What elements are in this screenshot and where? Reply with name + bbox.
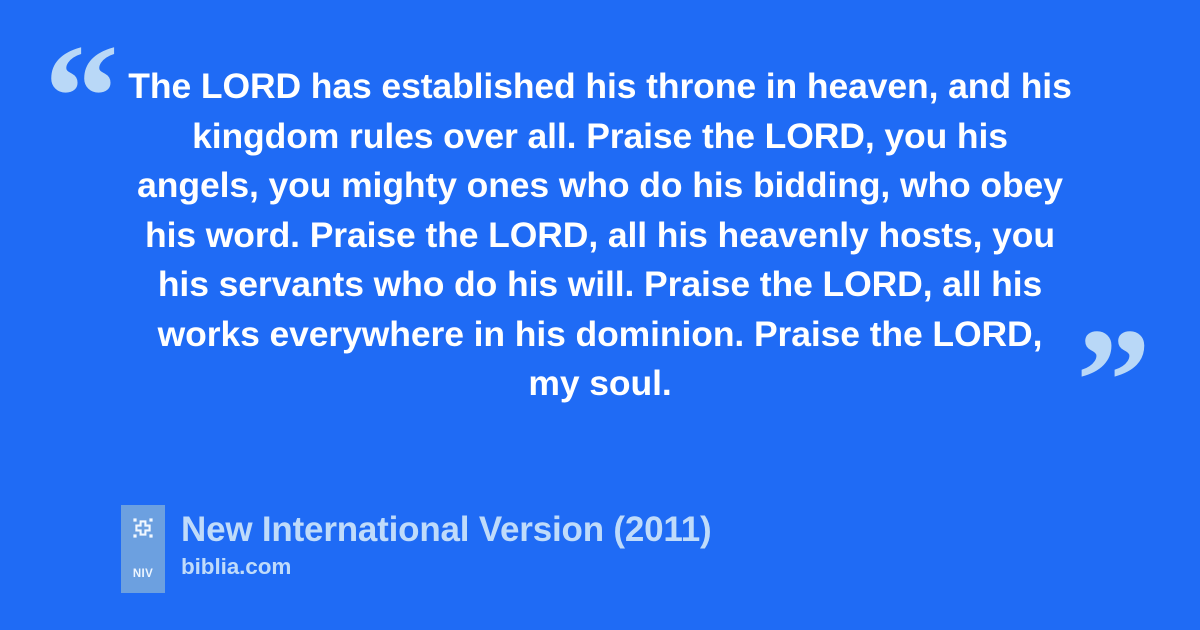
verse-card: “ The LORD has established his throne in… (0, 0, 1200, 630)
bible-version-title: New International Version (2011) (181, 508, 711, 552)
closing-quote-icon: ” (1076, 306, 1151, 456)
attribution-footer[interactable]: NIV New International Version (2011) bib… (121, 505, 711, 593)
niv-badge-label: NIV (133, 569, 153, 581)
verse-text: The LORD has established his throne in h… (128, 62, 1072, 409)
opening-quote-icon: “ (44, 22, 119, 172)
verse-block: The LORD has established his throne in h… (128, 62, 1072, 409)
site-name-link[interactable]: biblia.com (181, 553, 711, 581)
footer-text-group: New International Version (2011) biblia.… (181, 505, 711, 581)
niv-badge: NIV (121, 505, 165, 593)
logos-cross-marker-icon (131, 516, 155, 540)
